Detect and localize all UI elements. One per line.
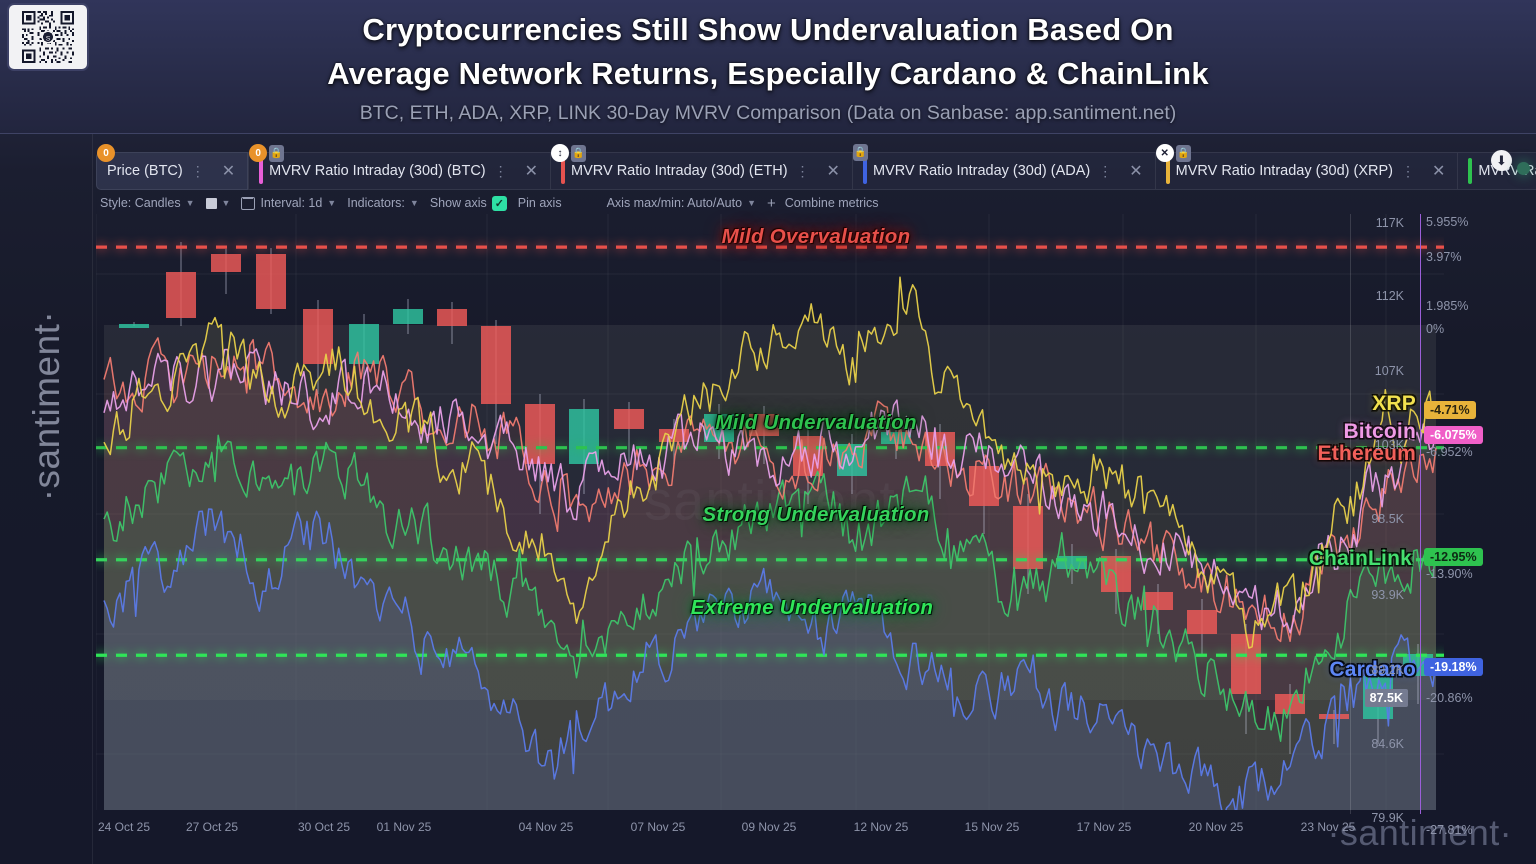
percent-tick-4: -6.952% bbox=[1426, 445, 1473, 459]
tab-label: MVRV Ratio Intraday (30d) (BTC) bbox=[269, 163, 486, 179]
tab-close-icon[interactable]: ✕ bbox=[214, 161, 243, 181]
tab-close-icon[interactable]: ✕ bbox=[819, 161, 848, 181]
left-divider bbox=[92, 134, 93, 864]
value-badge-cardano: -19.18% bbox=[1424, 658, 1483, 676]
color-dropdown[interactable]: ▼ bbox=[206, 198, 242, 209]
price-tick-3: 103K bbox=[1375, 438, 1404, 452]
tab-label: MVRV Ratio Intraday (30d) (ETH) bbox=[571, 163, 788, 179]
chart-area[interactable]: santiment Mild OvervaluationMild Underva… bbox=[96, 214, 1444, 844]
tab-alert-badge[interactable]: 0 bbox=[249, 144, 267, 162]
tab-close-icon[interactable]: ✕ bbox=[517, 161, 546, 181]
percent-axis[interactable]: 5.955%3.97%1.985%0%-6.952%-13.90%-20.86%… bbox=[1420, 214, 1536, 814]
chevron-down-icon: ▼ bbox=[747, 198, 756, 208]
qr-code-svg: S bbox=[13, 9, 83, 65]
tab-close-icon[interactable]: ✕ bbox=[1424, 161, 1453, 181]
chevron-down-icon: ▼ bbox=[327, 198, 336, 208]
chart-toolbar[interactable]: Style: Candles ▼ ▼ Interval: 1d ▼ Indica… bbox=[100, 192, 890, 214]
page-subtitle: BTC, ETH, ADA, XRP, LINK 30-Day MVRV Com… bbox=[0, 102, 1536, 125]
date-axis[interactable]: 24 Oct 2527 Oct 2530 Oct 2501 Nov 2504 N… bbox=[96, 820, 1448, 842]
pin-axis-button[interactable]: Pin axis bbox=[518, 196, 573, 210]
interval-dropdown[interactable]: Interval: 1d ▼ bbox=[241, 196, 347, 210]
interval-label: Interval: 1d bbox=[260, 196, 322, 210]
lock-icon[interactable]: 🔒 bbox=[1176, 145, 1191, 162]
percent-tick-3: 0% bbox=[1426, 322, 1444, 336]
show-axis-toggle[interactable]: Show axis ✓ bbox=[430, 196, 518, 211]
lock-icon[interactable]: 🔒 bbox=[853, 144, 868, 161]
combine-metrics-button[interactable]: + Combine metrics bbox=[767, 195, 890, 212]
chevron-down-icon: ▼ bbox=[410, 198, 419, 208]
price-tick-1: 112K bbox=[1376, 289, 1404, 303]
svg-text:S: S bbox=[46, 35, 51, 42]
price-tick-2: 107K bbox=[1375, 364, 1404, 378]
tab-menu-icon[interactable]: ⋮ bbox=[492, 163, 511, 180]
date-tick-9: 17 Nov 25 bbox=[1077, 820, 1132, 834]
axis-minmax-dropdown[interactable]: Axis max/min: Auto/Auto ▼ bbox=[573, 196, 767, 210]
date-tick-11: 23 Nov 25 bbox=[1301, 820, 1356, 834]
lock-icon[interactable]: 🔒 bbox=[269, 145, 284, 162]
style-dropdown[interactable]: Style: Candles ▼ bbox=[100, 196, 206, 210]
value-badge-bitcoin: -6.075% bbox=[1424, 426, 1483, 444]
metric-tab-0[interactable]: 0Price (BTC)⋮✕ bbox=[96, 152, 248, 190]
date-tick-8: 15 Nov 25 bbox=[965, 820, 1020, 834]
date-tick-10: 20 Nov 25 bbox=[1189, 820, 1244, 834]
tab-badge-group: 0 bbox=[97, 144, 115, 162]
metric-tab-2[interactable]: ↕🔒MVRV Ratio Intraday (30d) (ETH)⋮✕ bbox=[550, 152, 852, 190]
tab-series-color bbox=[863, 158, 867, 184]
tab-close-icon[interactable]: ✕ bbox=[1121, 161, 1150, 181]
date-tick-5: 07 Nov 25 bbox=[631, 820, 686, 834]
date-tick-2: 30 Oct 25 bbox=[298, 820, 350, 834]
tab-badge-group: 0🔒 bbox=[249, 144, 284, 162]
tab-badge-group: 🔒 bbox=[853, 144, 868, 161]
threshold-label-0: Mild Overvaluation bbox=[722, 225, 911, 249]
percent-tick-6: -20.86% bbox=[1426, 691, 1473, 705]
percent-tick-5: -13.90% bbox=[1426, 567, 1473, 581]
calendar-icon bbox=[241, 197, 255, 210]
lock-icon[interactable]: 🔒 bbox=[571, 145, 586, 162]
style-label: Style: Candles bbox=[100, 196, 181, 210]
date-tick-4: 04 Nov 25 bbox=[519, 820, 574, 834]
pin-axis-label: Pin axis bbox=[518, 196, 562, 210]
title-line-2: Average Network Returns, Especially Card… bbox=[0, 52, 1536, 96]
price-tick-6: 89.2K bbox=[1371, 663, 1404, 677]
header-banner: Cryptocurrencies Still Show Undervaluati… bbox=[0, 0, 1536, 134]
tab-menu-icon[interactable]: ⋮ bbox=[1096, 163, 1115, 180]
show-axis-label: Show axis bbox=[430, 196, 487, 210]
metric-tab-3[interactable]: 🔒MVRV Ratio Intraday (30d) (ADA)⋮✕ bbox=[852, 152, 1155, 190]
price-tick-7: 84.6K bbox=[1371, 737, 1404, 751]
chevron-down-icon: ▼ bbox=[222, 198, 231, 208]
threshold-label-3: Extreme Undervaluation bbox=[691, 596, 933, 620]
side-watermark: ·santiment· bbox=[26, 241, 68, 571]
date-tick-3: 01 Nov 25 bbox=[377, 820, 432, 834]
axis-minmax-label: Axis max/min: Auto/Auto bbox=[607, 196, 742, 210]
tab-menu-icon[interactable]: ⋮ bbox=[1399, 163, 1418, 180]
tab-badge-group: ↕🔒 bbox=[551, 144, 586, 162]
date-tick-0: 24 Oct 25 bbox=[98, 820, 150, 834]
metric-tab-4[interactable]: ✕🔒MVRV Ratio Intraday (30d) (XRP)⋮✕ bbox=[1155, 152, 1458, 190]
price-axis-line bbox=[1350, 214, 1351, 814]
date-tick-1: 27 Oct 25 bbox=[186, 820, 238, 834]
price-tick-4: 98.5K bbox=[1371, 512, 1404, 526]
value-badge-chainlink: -12.95% bbox=[1424, 548, 1483, 566]
color-swatch-icon bbox=[206, 198, 217, 209]
tab-label: Price (BTC) bbox=[107, 163, 183, 179]
tab-alert-badge[interactable]: 0 bbox=[97, 144, 115, 162]
tab-series-color bbox=[1468, 158, 1472, 184]
value-badge-xrp: -4.71% bbox=[1424, 401, 1476, 419]
tab-label: MVRV Ratio Intraday (30d) (XRP) bbox=[1176, 163, 1393, 179]
tab-label: MVRV Ratio Intraday (30d) (ADA) bbox=[873, 163, 1090, 179]
indicators-label: Indicators: bbox=[347, 196, 405, 210]
tab-badge-group: ✕🔒 bbox=[1156, 144, 1191, 162]
date-tick-7: 12 Nov 25 bbox=[854, 820, 909, 834]
price-axis[interactable]: 117K112K107K103K98.5K93.9K89.2K84.6K79.9… bbox=[1352, 214, 1404, 814]
metric-tab-1[interactable]: 0🔒MVRV Ratio Intraday (30d) (BTC)⋮✕ bbox=[248, 152, 550, 190]
price-current-badge: 87.5K bbox=[1365, 689, 1408, 707]
tab-alert-badge[interactable]: ✕ bbox=[1156, 144, 1174, 162]
status-dot bbox=[1517, 162, 1530, 175]
percent-tick-1: 3.97% bbox=[1426, 250, 1461, 264]
chart-screenshot: Cryptocurrencies Still Show Undervaluati… bbox=[0, 0, 1536, 864]
tab-menu-icon[interactable]: ⋮ bbox=[189, 163, 208, 180]
date-tick-6: 09 Nov 25 bbox=[742, 820, 797, 834]
page-title: Cryptocurrencies Still Show Undervaluati… bbox=[0, 0, 1536, 96]
tab-menu-icon[interactable]: ⋮ bbox=[794, 163, 813, 180]
checkbox-checked-icon[interactable]: ✓ bbox=[492, 196, 507, 211]
combine-metrics-label: Combine metrics bbox=[785, 196, 879, 210]
threshold-label-1: Mild Undervaluation bbox=[715, 411, 917, 435]
tab-alert-badge[interactable]: ↕ bbox=[551, 144, 569, 162]
price-tick-0: 117K bbox=[1376, 216, 1404, 230]
threshold-label-2: Strong Undervaluation bbox=[702, 503, 929, 527]
title-line-1: Cryptocurrencies Still Show Undervaluati… bbox=[0, 8, 1536, 52]
percent-tick-0: 5.955% bbox=[1426, 215, 1468, 229]
plus-icon: + bbox=[767, 195, 780, 212]
indicators-dropdown[interactable]: Indicators: ▼ bbox=[347, 196, 430, 210]
chevron-down-icon: ▼ bbox=[186, 198, 195, 208]
metric-tab-bar[interactable]: 0Price (BTC)⋮✕0🔒MVRV Ratio Intraday (30d… bbox=[96, 152, 1448, 190]
download-icon[interactable]: ⬇ bbox=[1491, 150, 1512, 171]
qr-code-icon[interactable]: S bbox=[7, 3, 89, 71]
percent-tick-2: 1.985% bbox=[1426, 299, 1468, 313]
price-tick-5: 93.9K bbox=[1371, 588, 1404, 602]
